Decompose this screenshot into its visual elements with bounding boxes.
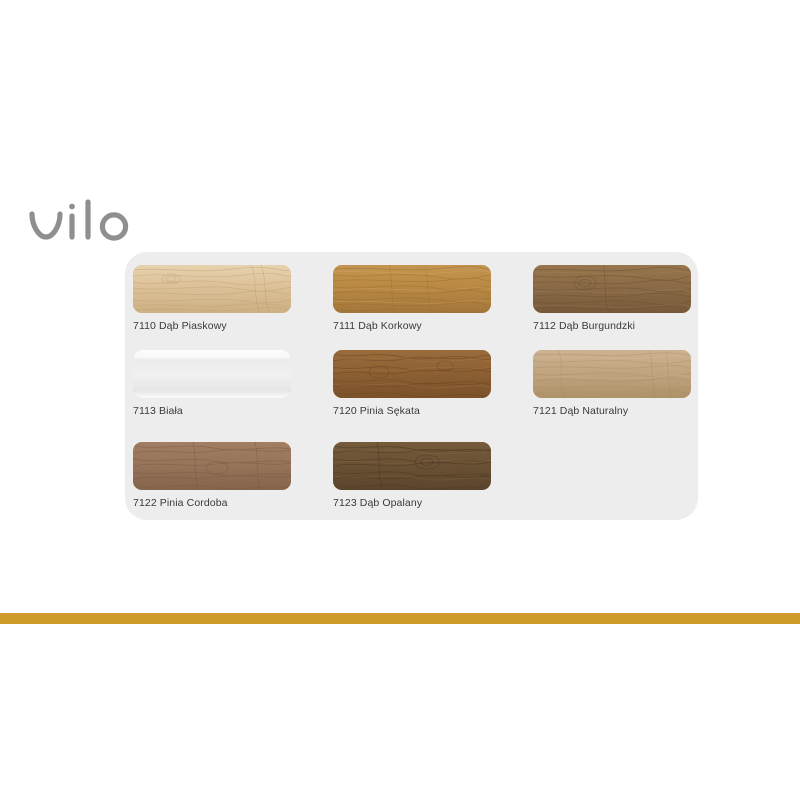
wood-grain-icon (133, 265, 291, 313)
wood-grain-icon (333, 350, 491, 398)
swatch-item-7123[interactable]: 7123 Dąb Opalany (333, 442, 493, 510)
wood-grain-icon (133, 442, 291, 490)
swatch-label: 7110 Dąb Piaskowy (133, 320, 293, 333)
swatch-chip-7123[interactable] (333, 442, 491, 490)
swatch-item-7111[interactable]: 7111 Dąb Korkowy (333, 265, 493, 333)
swatch-item-7122[interactable]: 7122 Pinia Cordoba (133, 442, 293, 510)
swatch-item-7110[interactable]: 7110 Dąb Piaskowy (133, 265, 293, 333)
swatch-item-7120[interactable]: 7120 Pinia Sękata (333, 350, 493, 418)
swatch-label: 7120 Pinia Sękata (333, 405, 493, 418)
swatch-chip-7122[interactable] (133, 442, 291, 490)
plain-finish-icon (133, 350, 291, 398)
vilo-logo-icon (28, 196, 148, 252)
swatch-item-7113[interactable]: 7113 Biała (133, 350, 293, 418)
swatch-label: 7113 Biała (133, 405, 293, 418)
accent-divider-bar (0, 613, 800, 624)
swatch-item-7121[interactable]: 7121 Dąb Naturalny (533, 350, 693, 418)
swatch-label: 7112 Dąb Burgundzki (533, 320, 693, 333)
wood-grain-icon (333, 442, 491, 490)
swatch-panel: 7110 Dąb Piaskowy (125, 252, 698, 520)
swatch-label: 7122 Pinia Cordoba (133, 497, 293, 510)
swatch-label: 7121 Dąb Naturalny (533, 405, 693, 418)
wood-grain-icon (333, 265, 491, 313)
wood-grain-icon (533, 265, 691, 313)
swatch-chip-7120[interactable] (333, 350, 491, 398)
vilo-logo (28, 196, 148, 252)
swatch-chip-7110[interactable] (133, 265, 291, 313)
swatch-chip-7111[interactable] (333, 265, 491, 313)
swatch-chip-7112[interactable] (533, 265, 691, 313)
swatch-label: 7123 Dąb Opalany (333, 497, 493, 510)
wood-grain-icon (533, 350, 691, 398)
swatch-item-7112[interactable]: 7112 Dąb Burgundzki (533, 265, 693, 333)
swatch-chip-7113[interactable] (133, 350, 291, 398)
logo-dot-icon (69, 204, 75, 210)
swatch-chip-7121[interactable] (533, 350, 691, 398)
logo-o-icon (102, 215, 125, 238)
swatch-label: 7111 Dąb Korkowy (333, 320, 493, 333)
